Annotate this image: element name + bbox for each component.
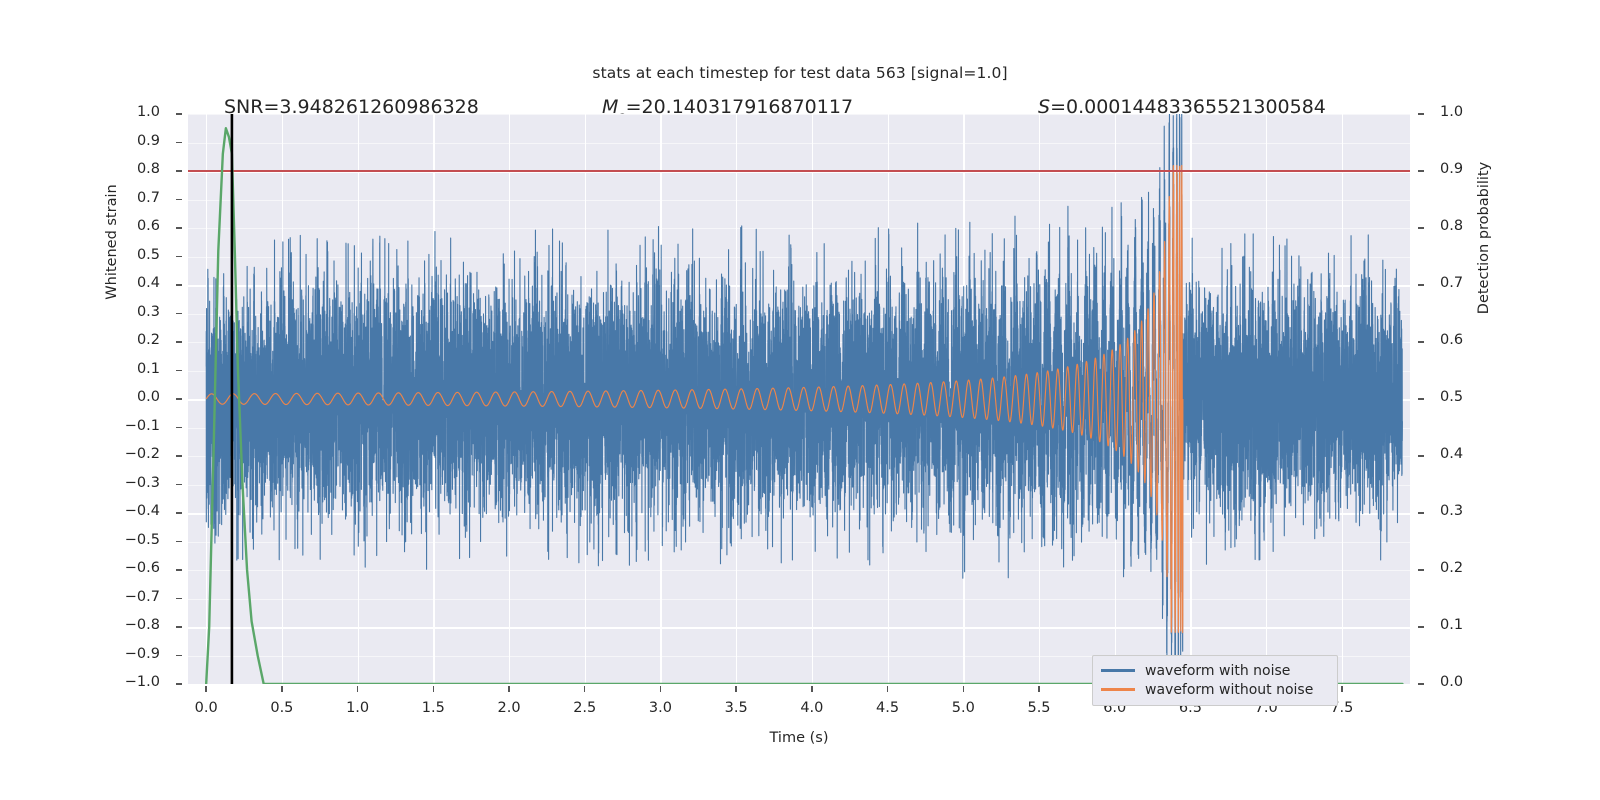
x-axis-tick-label: 2.5 (555, 700, 615, 716)
x-axis-tick-mark (963, 686, 964, 692)
x-axis-ticks: 0.00.51.01.52.02.53.03.54.04.55.05.56.06… (0, 0, 1600, 800)
x-axis-tick-mark (281, 686, 282, 692)
x-axis-tick-label: 4.0 (782, 700, 842, 716)
x-axis-label: Time (s) (188, 730, 1410, 746)
x-axis-tick-label: 1.0 (328, 700, 388, 716)
x-axis-tick-label: 3.0 (630, 700, 690, 716)
x-axis-tick-label: 5.0 (933, 700, 993, 716)
x-axis-tick-mark (508, 686, 509, 692)
x-axis-tick-mark (887, 686, 888, 692)
x-axis-tick-label: 0.0 (176, 700, 236, 716)
legend-label: waveform without noise (1145, 682, 1313, 698)
legend-item[interactable]: waveform with noise (1101, 661, 1329, 680)
x-axis-tick-mark (1038, 686, 1039, 692)
x-axis-tick-mark (205, 686, 206, 692)
x-axis-tick-label: 3.5 (706, 700, 766, 716)
x-axis-tick-mark (735, 686, 736, 692)
figure-canvas: stats at each timestep for test data 563… (0, 0, 1600, 800)
x-axis-tick-mark (660, 686, 661, 692)
x-axis-tick-label: 0.5 (252, 700, 312, 716)
x-axis-tick-label: 1.5 (403, 700, 463, 716)
x-axis-tick-mark (1341, 686, 1342, 692)
y-axis-right-label: Detection probability (1476, 128, 1492, 348)
x-axis-tick-mark (357, 686, 358, 692)
x-axis-tick-mark (433, 686, 434, 692)
legend-label: waveform with noise (1145, 663, 1290, 679)
x-axis-tick-label: 5.5 (1009, 700, 1069, 716)
legend-color-swatch (1101, 688, 1135, 691)
legend-color-swatch (1101, 669, 1135, 672)
legend-item[interactable]: waveform without noise (1101, 680, 1329, 699)
x-axis-tick-label: 2.0 (479, 700, 539, 716)
x-axis-tick-label: 4.5 (858, 700, 918, 716)
x-axis-tick-mark (584, 686, 585, 692)
y-axis-left-label: Whitened strain (104, 142, 120, 342)
legend: waveform with noisewaveform without nois… (1092, 655, 1338, 706)
x-axis-tick-mark (811, 686, 812, 692)
